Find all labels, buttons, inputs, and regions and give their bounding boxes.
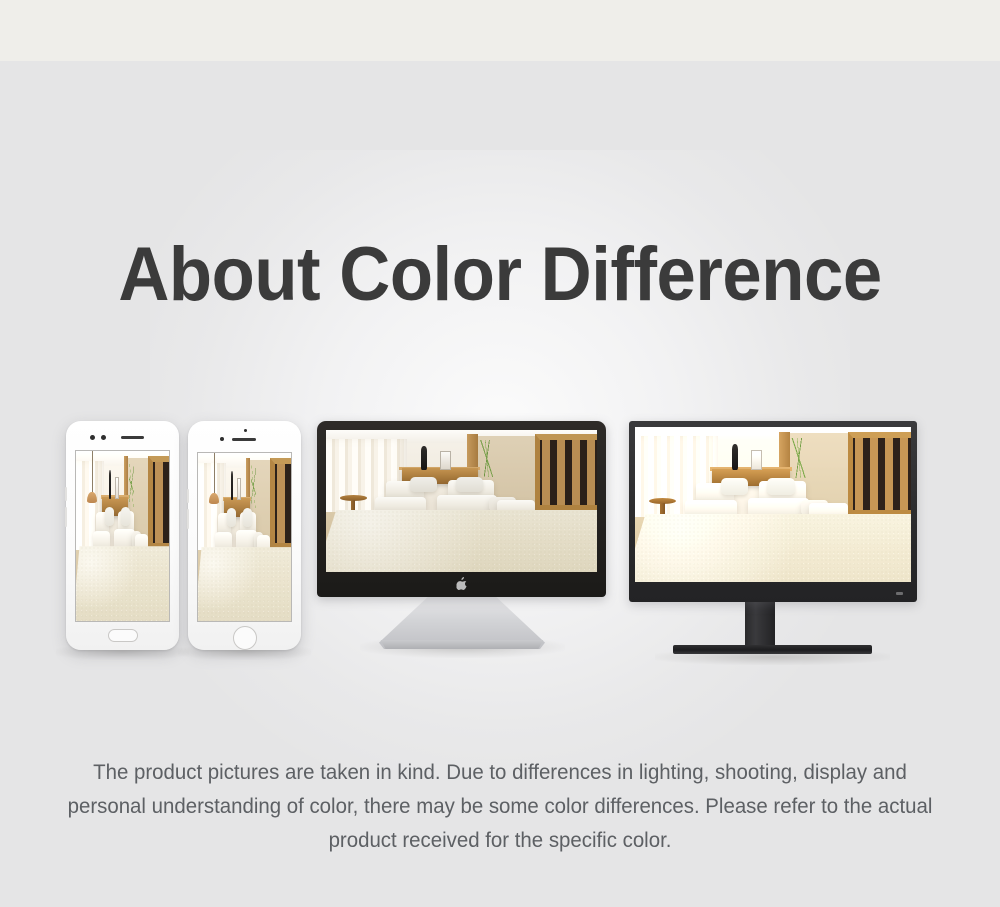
phone-home-button[interactable]	[108, 629, 138, 642]
apple-logo-icon	[456, 577, 467, 590]
apple-display-stand-edge	[379, 640, 545, 649]
phone-volume-up-button[interactable]	[187, 489, 189, 503]
device-phone-iphone[interactable]	[188, 421, 301, 650]
apple-display-bezel	[317, 421, 606, 597]
background-top-band	[0, 0, 1000, 61]
black-monitor-stand-base	[673, 645, 872, 654]
black-monitor-bezel	[629, 421, 917, 602]
earpiece-speaker-icon	[232, 438, 256, 441]
black-monitor-stand-neck	[745, 602, 775, 650]
interior-room-photo	[326, 430, 597, 572]
earpiece-speaker-icon	[121, 436, 144, 439]
power-led-icon	[896, 592, 903, 595]
device-phone-android[interactable]	[66, 421, 179, 650]
front-camera-icon	[90, 435, 95, 440]
device-apple-display[interactable]	[317, 421, 606, 597]
phone-home-button[interactable]	[233, 626, 257, 650]
front-camera-icon	[220, 437, 224, 441]
device-black-monitor[interactable]	[629, 421, 917, 602]
apple-display-screen	[326, 430, 597, 572]
proximity-sensor-icon	[101, 435, 106, 440]
interior-room-photo	[76, 451, 169, 621]
color-difference-disclaimer: The product pictures are taken in kind. …	[54, 755, 947, 857]
interior-room-photo	[198, 453, 291, 621]
black-monitor-screen	[635, 427, 911, 582]
interior-room-photo	[635, 427, 911, 582]
proximity-sensor-icon	[244, 429, 247, 432]
phone-volume-down-button[interactable]	[187, 509, 189, 529]
phone-volume-up-button[interactable]	[65, 487, 67, 501]
phone-volume-down-button[interactable]	[65, 507, 67, 527]
phone-iphone-screen	[197, 452, 292, 622]
about-color-difference-page: About Color Difference	[0, 0, 1000, 907]
phone-android-screen	[75, 450, 170, 622]
page-title: About Color Difference	[35, 229, 965, 321]
